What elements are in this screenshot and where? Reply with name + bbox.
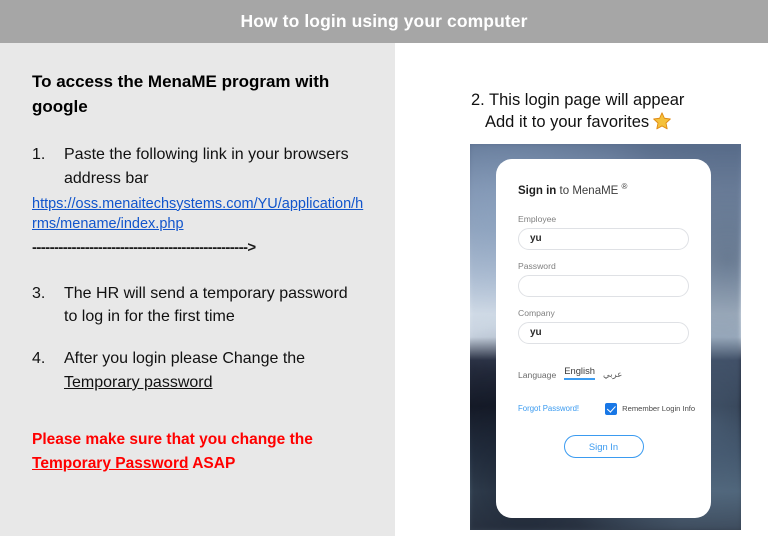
- step-text: Paste the following link in your browser…: [64, 143, 354, 190]
- section-heading: To access the MenaME program with google: [32, 70, 367, 119]
- registered-trademark-icon: ®: [622, 182, 628, 191]
- screenshot-panel: 2. This login page will appear Add it to…: [395, 43, 768, 536]
- caption-line-2-wrap: Add it to your favorites: [471, 111, 751, 137]
- step-number: 1.: [32, 143, 64, 167]
- page-title: How to login using your computer: [240, 11, 527, 32]
- language-label: Language: [518, 370, 556, 380]
- password-input[interactable]: [518, 275, 689, 297]
- caption-line-2: Add it to your favorites: [485, 113, 649, 131]
- sign-in-card: Sign in to MenaME ® Employee Password Co…: [496, 159, 711, 518]
- forgot-password-link[interactable]: Forgot Password!: [518, 404, 579, 413]
- caption-line-1: 2. This login page will appear: [471, 91, 684, 109]
- language-selector: Language English عربي: [518, 365, 689, 382]
- warning-line-1: Please make sure that you change the: [32, 431, 313, 448]
- company-field-label: Company: [518, 308, 689, 318]
- instructions-panel: To access the MenaME program with google…: [0, 43, 395, 536]
- step-text: The HR will send a temporary password to…: [64, 282, 354, 329]
- star-icon: [652, 111, 672, 137]
- step-number: 3.: [32, 282, 64, 306]
- step-item-1: 1. Paste the following link in your brow…: [32, 143, 367, 190]
- language-option-english[interactable]: English: [564, 365, 595, 380]
- sign-in-card-title: Sign in to MenaME ®: [518, 182, 689, 197]
- sign-in-title-rest: to MenaME: [556, 185, 618, 197]
- login-options-row: Forgot Password! Remember Login Info: [518, 403, 689, 415]
- spacer: [32, 329, 367, 347]
- sign-in-button[interactable]: Sign In: [564, 435, 644, 458]
- warning-message: Please make sure that you change the Tem…: [32, 428, 362, 475]
- login-page-screenshot: Sign in to MenaME ® Employee Password Co…: [470, 144, 741, 530]
- dashed-arrow: ----------------------------------------…: [32, 239, 367, 256]
- spacer: [32, 256, 367, 282]
- remember-login-label: Remember Login Info: [622, 404, 695, 413]
- temporary-password-emphasis: Temporary password: [64, 374, 213, 391]
- screenshot-caption: 2. This login page will appear Add it to…: [471, 89, 751, 138]
- employee-input[interactable]: [518, 228, 689, 250]
- warning-line-2-rest: ASAP: [189, 455, 236, 472]
- warning-emphasis: Temporary Password: [32, 455, 189, 472]
- remember-login-wrap: Remember Login Info: [605, 403, 695, 415]
- step-item-4: 4. After you login please Change the Tem…: [32, 347, 367, 394]
- step-number: 4.: [32, 347, 64, 371]
- step-item-3: 3. The HR will send a temporary password…: [32, 282, 367, 329]
- remember-login-checkbox[interactable]: [605, 403, 617, 415]
- step-text-plain: After you login please Change the: [64, 350, 305, 367]
- password-field-label: Password: [518, 261, 689, 271]
- header-bar: How to login using your computer: [0, 0, 768, 43]
- language-option-arabic[interactable]: عربي: [603, 369, 622, 380]
- employee-field-label: Employee: [518, 214, 689, 224]
- step-text: After you login please Change the Tempor…: [64, 347, 354, 394]
- steps-list: 1. Paste the following link in your brow…: [32, 143, 367, 394]
- sign-in-button-wrap: Sign In: [518, 435, 689, 458]
- sign-in-title-bold: Sign in: [518, 185, 556, 197]
- menaitech-login-link[interactable]: https://oss.menaitechsystems.com/YU/appl…: [32, 194, 367, 235]
- company-input[interactable]: [518, 322, 689, 344]
